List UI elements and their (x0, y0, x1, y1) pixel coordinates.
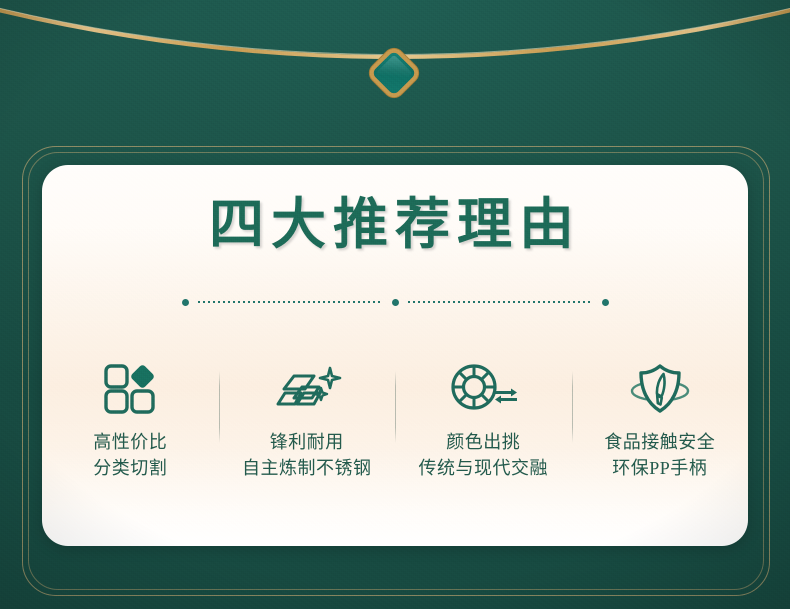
top-ornament (0, 0, 790, 130)
feature-line1: 高性价比 (93, 432, 167, 452)
gold-arc-line (0, 8, 790, 57)
content-card: 四大推荐理由 高性价比 (42, 165, 748, 546)
dotted-divider (42, 297, 748, 307)
shield-knife-orbit-icon (627, 363, 693, 415)
feature-item-color: 颜色出挑 传统与现代交融 (395, 363, 572, 481)
feature-list: 高性价比 分类切割 (42, 363, 748, 493)
feature-line1: 颜色出挑 (446, 432, 520, 452)
feature-item-durability: 锋利耐用 自主炼制不锈钢 (219, 363, 396, 481)
feature-item-safety: 食品接触安全 环保PP手柄 (572, 363, 749, 481)
feature-line2: 分类切割 (93, 455, 167, 481)
feature-line2: 传统与现代交融 (419, 455, 549, 481)
color-wheel-exchange-icon (448, 363, 518, 415)
divider-line-left (198, 301, 383, 303)
feature-line2: 环保PP手柄 (604, 455, 715, 481)
feature-label: 颜色出挑 传统与现代交融 (419, 429, 549, 481)
feature-label: 锋利耐用 自主炼制不锈钢 (242, 429, 372, 481)
promo-banner: 四大推荐理由 高性价比 (0, 0, 790, 609)
page-title: 四大推荐理由 (42, 197, 748, 252)
feature-label: 食品接触安全 环保PP手柄 (604, 429, 715, 481)
divider-dot-center (392, 299, 399, 306)
divider-dot-right (602, 299, 609, 306)
feature-item-value: 高性价比 分类切割 (42, 363, 219, 481)
divider-line-right (408, 301, 593, 303)
feature-line2: 自主炼制不锈钢 (242, 455, 372, 481)
grid-squares-diamond-icon (102, 363, 158, 415)
gold-arc-highlight (0, 6, 790, 55)
feature-label: 高性价比 分类切割 (93, 429, 167, 481)
steel-ingots-sparkle-icon (272, 363, 342, 415)
feature-line1: 食品接触安全 (604, 432, 715, 452)
divider-dot-left (182, 299, 189, 306)
feature-line1: 锋利耐用 (270, 432, 344, 452)
